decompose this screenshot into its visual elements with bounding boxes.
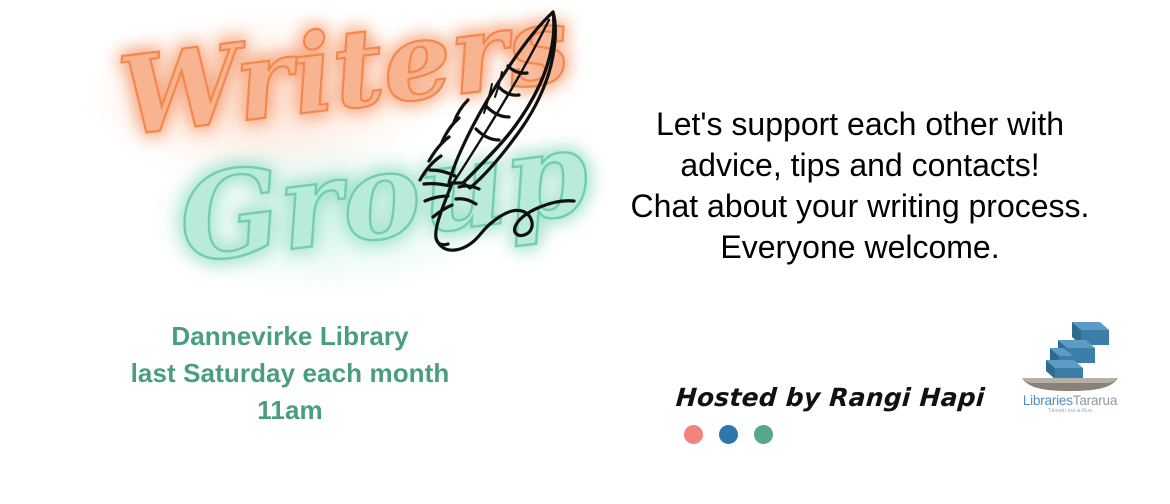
logo-word-tararua: Tararua	[1073, 393, 1117, 408]
venue-details: Dannevirke Library last Saturday each mo…	[0, 318, 580, 429]
blurb-line-4: Everyone welcome.	[610, 227, 1110, 268]
venue-line-schedule: last Saturday each month	[0, 355, 580, 392]
poster-canvas: Writers Group	[0, 0, 1170, 504]
logo-word-libraries: Libraries	[1023, 393, 1073, 408]
logo-waka-hull	[1022, 378, 1118, 391]
libraries-tararua-waka-logo-icon	[1014, 318, 1126, 392]
hosted-by-text: Hosted by Rangi Hapi	[675, 383, 937, 412]
hosted-by-block: Hosted by Rangi Hapi	[675, 383, 935, 444]
venue-line-time: 11am	[0, 392, 580, 429]
blurb-line-2: advice, tips and contacts!	[610, 145, 1110, 186]
libraries-tararua-logo: LibrariesTararua Tāmaki nui-a-Rua	[1000, 318, 1140, 414]
blurb-text: Let's support each other with advice, ti…	[610, 104, 1110, 268]
dot-blue	[719, 425, 738, 444]
blurb-line-3: Chat about your writing process.	[610, 186, 1110, 227]
neon-title-group: Writers Group	[0, 0, 620, 300]
blurb-line-1: Let's support each other with	[610, 104, 1110, 145]
venue-line-location: Dannevirke Library	[0, 318, 580, 355]
dot-salmon	[684, 425, 703, 444]
logo-tagline: Tāmaki nui-a-Rua	[1000, 408, 1140, 414]
dot-green	[754, 425, 773, 444]
left-panel: Writers Group	[0, 0, 620, 504]
logo-wordmark: LibrariesTararua	[1000, 393, 1140, 408]
accent-dots	[684, 425, 935, 444]
right-panel: Let's support each other with advice, ti…	[600, 0, 1170, 504]
neon-title-svg: Writers Group	[0, 0, 620, 300]
